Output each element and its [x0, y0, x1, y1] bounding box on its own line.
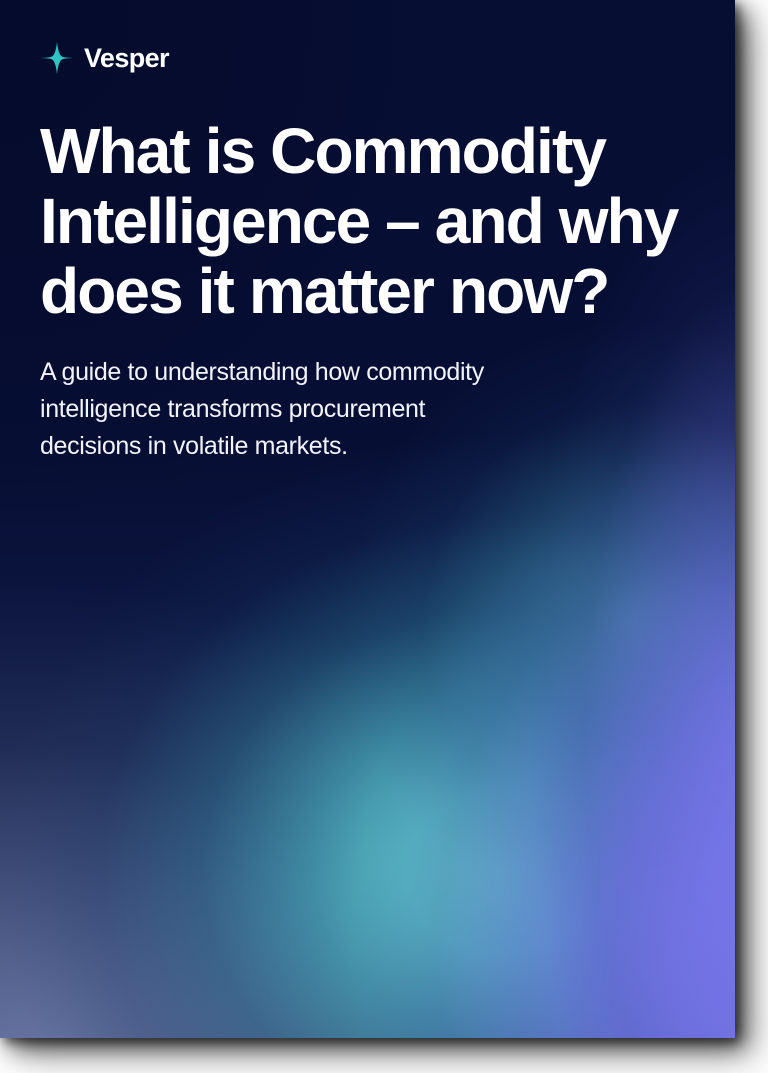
cover-content: Vesper What is Commodity Intelligence – …	[0, 0, 735, 465]
sparkle-icon	[40, 41, 74, 75]
title-line-2: Intelligence – and why	[40, 186, 695, 256]
brand-wordmark: Vesper	[84, 45, 169, 72]
brand-lockup[interactable]: Vesper	[40, 38, 695, 78]
title-line-3: does it matter now?	[40, 256, 695, 326]
page-subtitle: A guide to understanding how commodity i…	[40, 354, 640, 465]
page-title: What is Commodity Intelligence – and why…	[40, 116, 695, 326]
title-line-1: What is Commodity	[40, 116, 695, 186]
cover-page: Vesper What is Commodity Intelligence – …	[0, 0, 735, 1038]
subtitle-line-1: A guide to understanding how commodity	[40, 354, 640, 391]
subtitle-line-2: intelligence transforms procurement	[40, 391, 640, 428]
subtitle-line-3: decisions in volatile markets.	[40, 428, 640, 465]
